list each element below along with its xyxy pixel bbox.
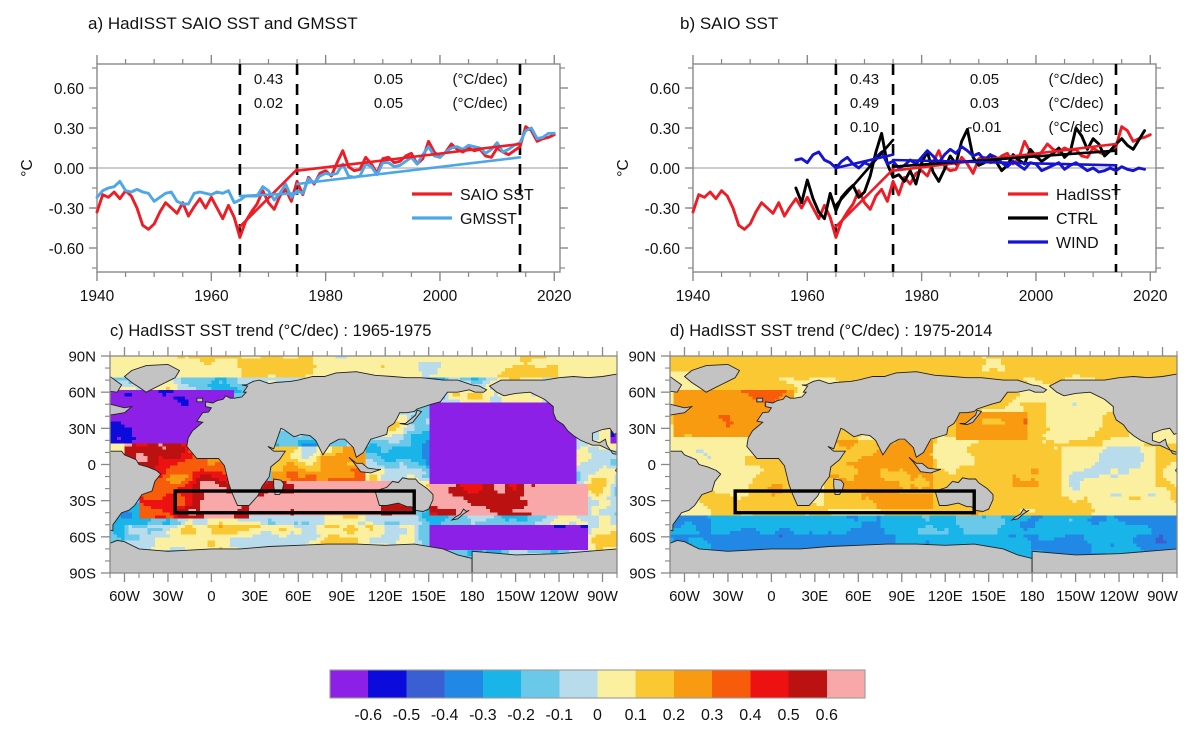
svg-text:1940: 1940 [80, 288, 115, 305]
svg-text:0.30: 0.30 [650, 121, 681, 138]
svg-text:0.60: 0.60 [650, 81, 681, 98]
colorbar: -0.6-0.5-0.4-0.3-0.2-0.100.10.20.30.40.5… [0, 660, 1193, 743]
svg-text:-0.01: -0.01 [967, 119, 1001, 136]
svg-text:SAIO SST: SAIO SST [460, 187, 534, 204]
svg-text:2000: 2000 [423, 288, 458, 305]
panel-c-map: 90N60N30N030S60S90S60W30W030E60E90E120E1… [0, 310, 640, 655]
svg-text:1980: 1980 [308, 288, 343, 305]
panel-d: d) HadISST SST trend (°C/dec) : 1975-201… [592, 310, 1193, 655]
svg-text:0.43: 0.43 [850, 71, 879, 88]
svg-text:-0.60: -0.60 [645, 241, 681, 258]
svg-text:-0.30: -0.30 [645, 201, 681, 218]
svg-text:°C: °C [19, 159, 36, 176]
svg-text:0.05: 0.05 [374, 95, 403, 112]
svg-text:0.00: 0.00 [54, 161, 85, 178]
svg-text:0.49: 0.49 [850, 95, 879, 112]
svg-text:-0.60: -0.60 [49, 241, 85, 258]
svg-text:-0.30: -0.30 [49, 201, 85, 218]
svg-text:1940: 1940 [676, 288, 711, 305]
figure-root: a) HadISST SAIO SST and GMSST 0.600.300.… [0, 0, 1193, 743]
panel-a-title: a) HadISST SAIO SST and GMSST [88, 14, 358, 34]
panel-d-map: 90N60N30N030S60S90S60W30W030E60E90E120E1… [592, 310, 1193, 655]
svg-text:0.03: 0.03 [970, 95, 999, 112]
svg-text:0.05: 0.05 [374, 71, 403, 88]
svg-text:0.00: 0.00 [650, 161, 681, 178]
panel-b-plot: 0.600.300.00-0.30-0.60194019601980200020… [596, 0, 1193, 310]
panel-c: c) HadISST SST trend (°C/dec) : 1965-197… [0, 310, 640, 655]
svg-text:°C: °C [615, 159, 632, 176]
svg-text:2020: 2020 [1133, 288, 1168, 305]
svg-text:(°C/dec): (°C/dec) [1049, 71, 1104, 88]
svg-text:0.30: 0.30 [54, 121, 85, 138]
svg-text:HadISST: HadISST [1056, 187, 1121, 204]
svg-text:0.10: 0.10 [850, 119, 879, 136]
svg-text:0.05: 0.05 [970, 71, 999, 88]
panel-a-plot: 0.600.300.00-0.30-0.60194019601980200020… [0, 0, 600, 310]
panel-c-title: c) HadISST SST trend (°C/dec) : 1965-197… [110, 322, 431, 341]
svg-text:1980: 1980 [904, 288, 939, 305]
svg-text:0.43: 0.43 [254, 71, 283, 88]
svg-text:(°C/dec): (°C/dec) [1049, 119, 1104, 136]
svg-text:GMSST: GMSST [460, 211, 517, 228]
svg-text:WIND: WIND [1056, 235, 1099, 252]
svg-text:(°C/dec): (°C/dec) [1049, 95, 1104, 112]
svg-text:1960: 1960 [790, 288, 825, 305]
svg-text:2020: 2020 [537, 288, 572, 305]
svg-text:(°C/dec): (°C/dec) [453, 71, 508, 88]
svg-text:CTRL: CTRL [1056, 211, 1098, 228]
panel-d-title: d) HadISST SST trend (°C/dec) : 1975-201… [670, 322, 992, 341]
svg-text:0.60: 0.60 [54, 81, 85, 98]
panel-b-title: b) SAIO SST [680, 14, 778, 34]
svg-text:(°C/dec): (°C/dec) [453, 95, 508, 112]
svg-text:1960: 1960 [194, 288, 229, 305]
svg-text:0.02: 0.02 [254, 95, 283, 112]
svg-text:2000: 2000 [1019, 288, 1054, 305]
colorbar-svg: -0.6-0.5-0.4-0.3-0.2-0.100.10.20.30.40.5… [0, 660, 1193, 743]
panel-b: b) SAIO SST 0.600.300.00-0.30-0.60194019… [596, 0, 1193, 310]
panel-a: a) HadISST SAIO SST and GMSST 0.600.300.… [0, 0, 600, 310]
